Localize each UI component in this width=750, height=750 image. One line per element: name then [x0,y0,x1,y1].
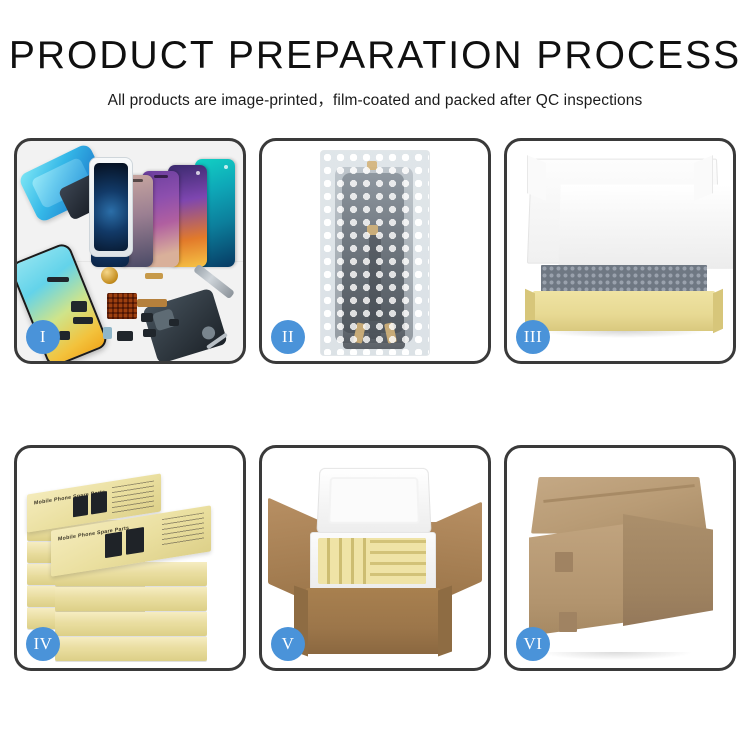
panel-step-2: II [259,138,491,364]
spec-text-lines [162,512,204,547]
kraft-box-icon [55,612,207,636]
step-badge-1: I [26,320,60,354]
spare-part-icon [141,313,153,322]
bubble-texture [321,151,429,355]
spare-part-icon [169,319,179,326]
box-lid-icon [527,159,721,264]
kraft-boxes-inside [370,538,426,584]
spare-part-icon [71,301,87,312]
process-grid: I II [14,138,736,671]
panel-step-5: V [259,445,491,671]
page-title: PRODUCT PREPARATION PROCESS [0,36,750,77]
carton-left-face [529,524,625,636]
copper-mesh-icon [107,293,137,319]
spare-part-icon [73,317,93,324]
lid-side-left [527,155,546,201]
kraft-box-icon [55,587,207,611]
header: PRODUCT PREPARATION PROCESS All products… [0,0,750,110]
spare-part-icon [59,331,70,340]
foam-box-lid-icon [316,468,431,534]
panel-step-1: I [14,138,246,364]
page-subtitle: All products are image-printed，film-coat… [0,88,750,110]
kraft-box-base-icon [533,291,715,331]
phone-print-icon [105,531,122,558]
phone-print-icon [126,527,144,555]
lid-inner-face [558,185,733,269]
spare-part-icon [103,327,112,339]
panel-step-4: Mobile Phone Spare Parts Mobile Phone Sp… [14,445,246,671]
spare-part-icon [145,273,163,279]
bubble-wrap-fill-icon [541,265,707,293]
step-badge-3: III [516,320,550,354]
spec-text-lines [112,480,154,515]
vibration-motor-icon [101,267,118,284]
drop-shadow [541,331,707,338]
kraft-box-icon [55,637,207,661]
spare-part-icon [143,329,156,337]
step-badge-2: II [271,320,305,354]
front-glass-icon [89,157,133,257]
phone-print-icon [91,491,107,515]
infographic-page: PRODUCT PREPARATION PROCESS All products… [0,0,750,750]
carton-right-face [623,514,713,626]
step-badge-4: IV [26,627,60,661]
bubble-wrap-bag-icon [320,150,430,356]
spare-part-icon [117,331,133,341]
panel-step-6: VI [504,445,736,671]
tape-icon [555,552,573,572]
tape-icon [559,612,577,632]
phone-print-icon [73,495,88,517]
flex-cable-icon [137,299,167,307]
lid-side-right [694,155,713,201]
step-badge-6: VI [516,627,550,661]
drop-shadow [541,652,691,660]
panel-step-3: III [504,138,736,364]
spare-part-icon [47,277,69,282]
carton-front-wall [306,588,440,654]
step-badge-5: V [271,627,305,661]
